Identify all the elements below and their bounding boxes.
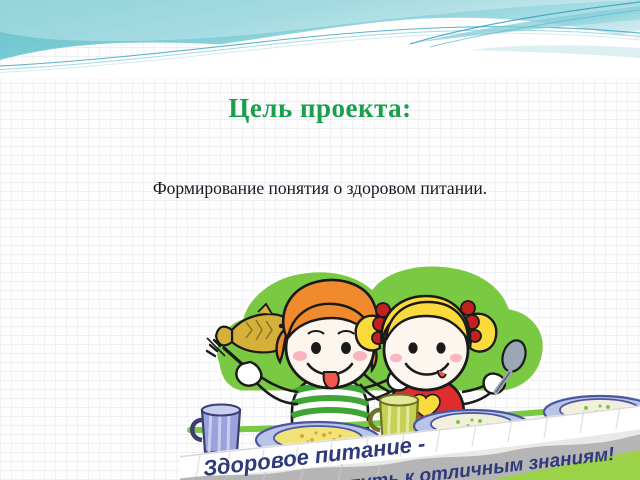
header-wave-decoration	[0, 0, 640, 78]
slide-body-text: Формирование понятия о здоровом питании.	[0, 178, 640, 199]
slide-title: Цель проекта:	[0, 93, 640, 124]
slide-canvas: Цель проекта: Формирование понятия о здо…	[0, 0, 640, 480]
healthy-eating-illustration: Здоровое питание - путь к отличным знани…	[180, 252, 640, 480]
